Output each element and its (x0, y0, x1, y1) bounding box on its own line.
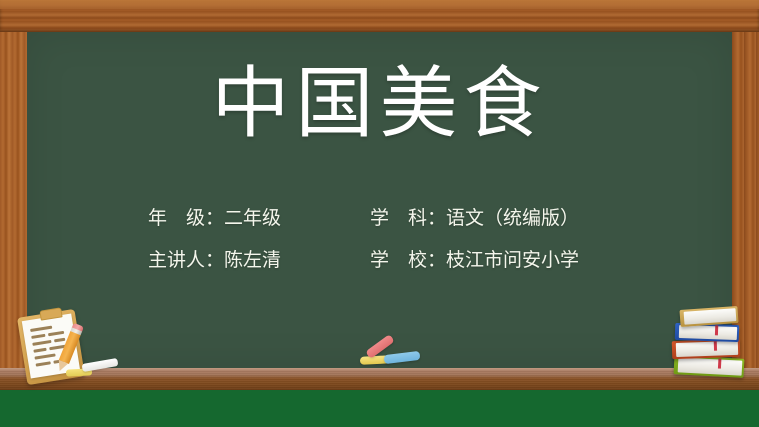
paper-text-line (30, 326, 52, 332)
paper-text-line (34, 353, 55, 359)
book-red (672, 339, 741, 359)
book-pages (679, 325, 737, 340)
frame-top-rail (0, 0, 759, 32)
frame-top-highlight (0, 0, 759, 9)
paper-text-line (54, 338, 65, 343)
info-row-teacher: 主讲人：陈左清 学 校：枝江市问安小学 (148, 245, 618, 287)
book-bookmark (715, 325, 718, 335)
book-pages (676, 341, 738, 357)
book-stack-decoration (672, 308, 752, 382)
chalk-blue (384, 351, 421, 364)
book-bookmark (718, 358, 722, 368)
clipboard-decoration (8, 303, 128, 385)
info-school-label-value: 学 校：枝江市问安小学 (370, 245, 618, 272)
lesson-info-block: 年 级：二年级 学 科：语文（统编版） 主讲人：陈左清 学 校：枝江市问安小学 (148, 203, 618, 287)
bottom-green-band (0, 390, 759, 427)
info-teacher-label-value: 主讲人：陈左清 (148, 245, 370, 272)
lesson-title-slide: 中国美食 年 级：二年级 学 科：语文（统编版） 主讲人：陈左清 学 校：枝江市… (0, 0, 759, 427)
paper-text-line (33, 348, 46, 353)
paper-text-line (32, 340, 51, 346)
page-title: 中国美食 (0, 56, 759, 152)
paper-text-line (48, 331, 64, 336)
info-row-grade: 年 级：二年级 学 科：语文（统编版） (148, 203, 618, 245)
book-pages (678, 357, 743, 375)
info-subject-label-value: 学 科：语文（统编版） (370, 203, 618, 230)
book-bookmark (714, 341, 717, 351)
paper-text-line (31, 334, 45, 339)
chalk-pieces-decoration (360, 340, 424, 368)
paper-text-line (36, 361, 51, 366)
book-pages (684, 308, 737, 325)
chalk-white (82, 358, 119, 372)
info-grade-label-value: 年 级：二年级 (148, 203, 370, 230)
